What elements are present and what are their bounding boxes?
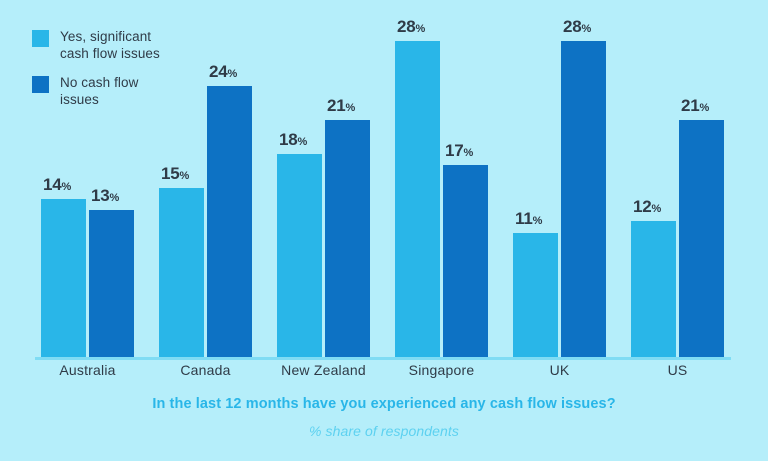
legend-item-yes: Yes, significant cash flow issues <box>32 28 160 62</box>
bar-item[interactable]: 28% <box>561 41 606 357</box>
bar-group: 15%24% <box>159 86 252 357</box>
bar-rect[interactable] <box>513 233 558 357</box>
x-axis-label: Australia <box>41 362 134 378</box>
bar-item[interactable]: 21% <box>679 120 724 357</box>
legend-label-no: No cash flow issues <box>60 74 138 108</box>
bar-rect[interactable] <box>443 165 488 357</box>
bar-item[interactable]: 14% <box>41 199 86 357</box>
bar-item[interactable]: 12% <box>631 221 676 357</box>
bar-value-label: 14% <box>43 175 71 195</box>
bar-value-label: 15% <box>161 164 189 184</box>
bar-value-label: 13% <box>91 186 119 206</box>
bar-item[interactable]: 21% <box>325 120 370 357</box>
bar-group: 28%17% <box>395 41 488 357</box>
legend-item-no: No cash flow issues <box>32 74 160 108</box>
x-axis-tick-labels: AustraliaCanadaNew ZealandSingaporeUKUS <box>35 362 730 378</box>
bar-value-label: 21% <box>681 96 709 116</box>
bar-group: 18%21% <box>277 120 370 357</box>
bar-rect[interactable] <box>561 41 606 357</box>
x-axis-label: UK <box>513 362 606 378</box>
bar-value-label: 12% <box>633 197 661 217</box>
bar-group: 12%21% <box>631 120 724 357</box>
bar-rect[interactable] <box>679 120 724 357</box>
caption-subtitle: % share of respondents <box>0 423 768 439</box>
bar-rect[interactable] <box>159 188 204 358</box>
x-axis-label: Canada <box>159 362 252 378</box>
bar-group: 14%13% <box>41 199 134 357</box>
chart-legend: Yes, significant cash flow issues No cas… <box>32 28 160 108</box>
bar-value-label: 24% <box>209 62 237 82</box>
legend-swatch-no-icon <box>32 76 49 93</box>
bar-rect[interactable] <box>395 41 440 357</box>
bar-item[interactable]: 13% <box>89 210 134 357</box>
bar-rect[interactable] <box>89 210 134 357</box>
x-axis-line <box>35 357 731 360</box>
bar-rect[interactable] <box>277 154 322 357</box>
x-axis-label: Singapore <box>395 362 488 378</box>
bar-item[interactable]: 18% <box>277 154 322 357</box>
bar-rect[interactable] <box>631 221 676 357</box>
bar-group: 11%28% <box>513 41 606 357</box>
bar-value-label: 21% <box>327 96 355 116</box>
bar-item[interactable]: 11% <box>513 233 558 357</box>
legend-label-yes: Yes, significant cash flow issues <box>60 28 160 62</box>
bar-rect[interactable] <box>325 120 370 357</box>
bar-rect[interactable] <box>41 199 86 357</box>
bar-item[interactable]: 17% <box>443 165 488 357</box>
legend-swatch-yes-icon <box>32 30 49 47</box>
chart-caption: In the last 12 months have you experienc… <box>0 396 768 439</box>
bar-value-label: 11% <box>515 209 542 229</box>
bar-item[interactable]: 28% <box>395 41 440 357</box>
caption-title: In the last 12 months have you experienc… <box>0 396 768 412</box>
x-axis-label: New Zealand <box>277 362 370 378</box>
bar-value-label: 28% <box>563 17 591 37</box>
bar-rect[interactable] <box>207 86 252 357</box>
bar-item[interactable]: 24% <box>207 86 252 357</box>
bar-value-label: 18% <box>279 130 307 150</box>
bar-value-label: 28% <box>397 17 425 37</box>
bar-value-label: 17% <box>445 141 473 161</box>
bar-item[interactable]: 15% <box>159 188 204 358</box>
x-axis-label: US <box>631 362 724 378</box>
